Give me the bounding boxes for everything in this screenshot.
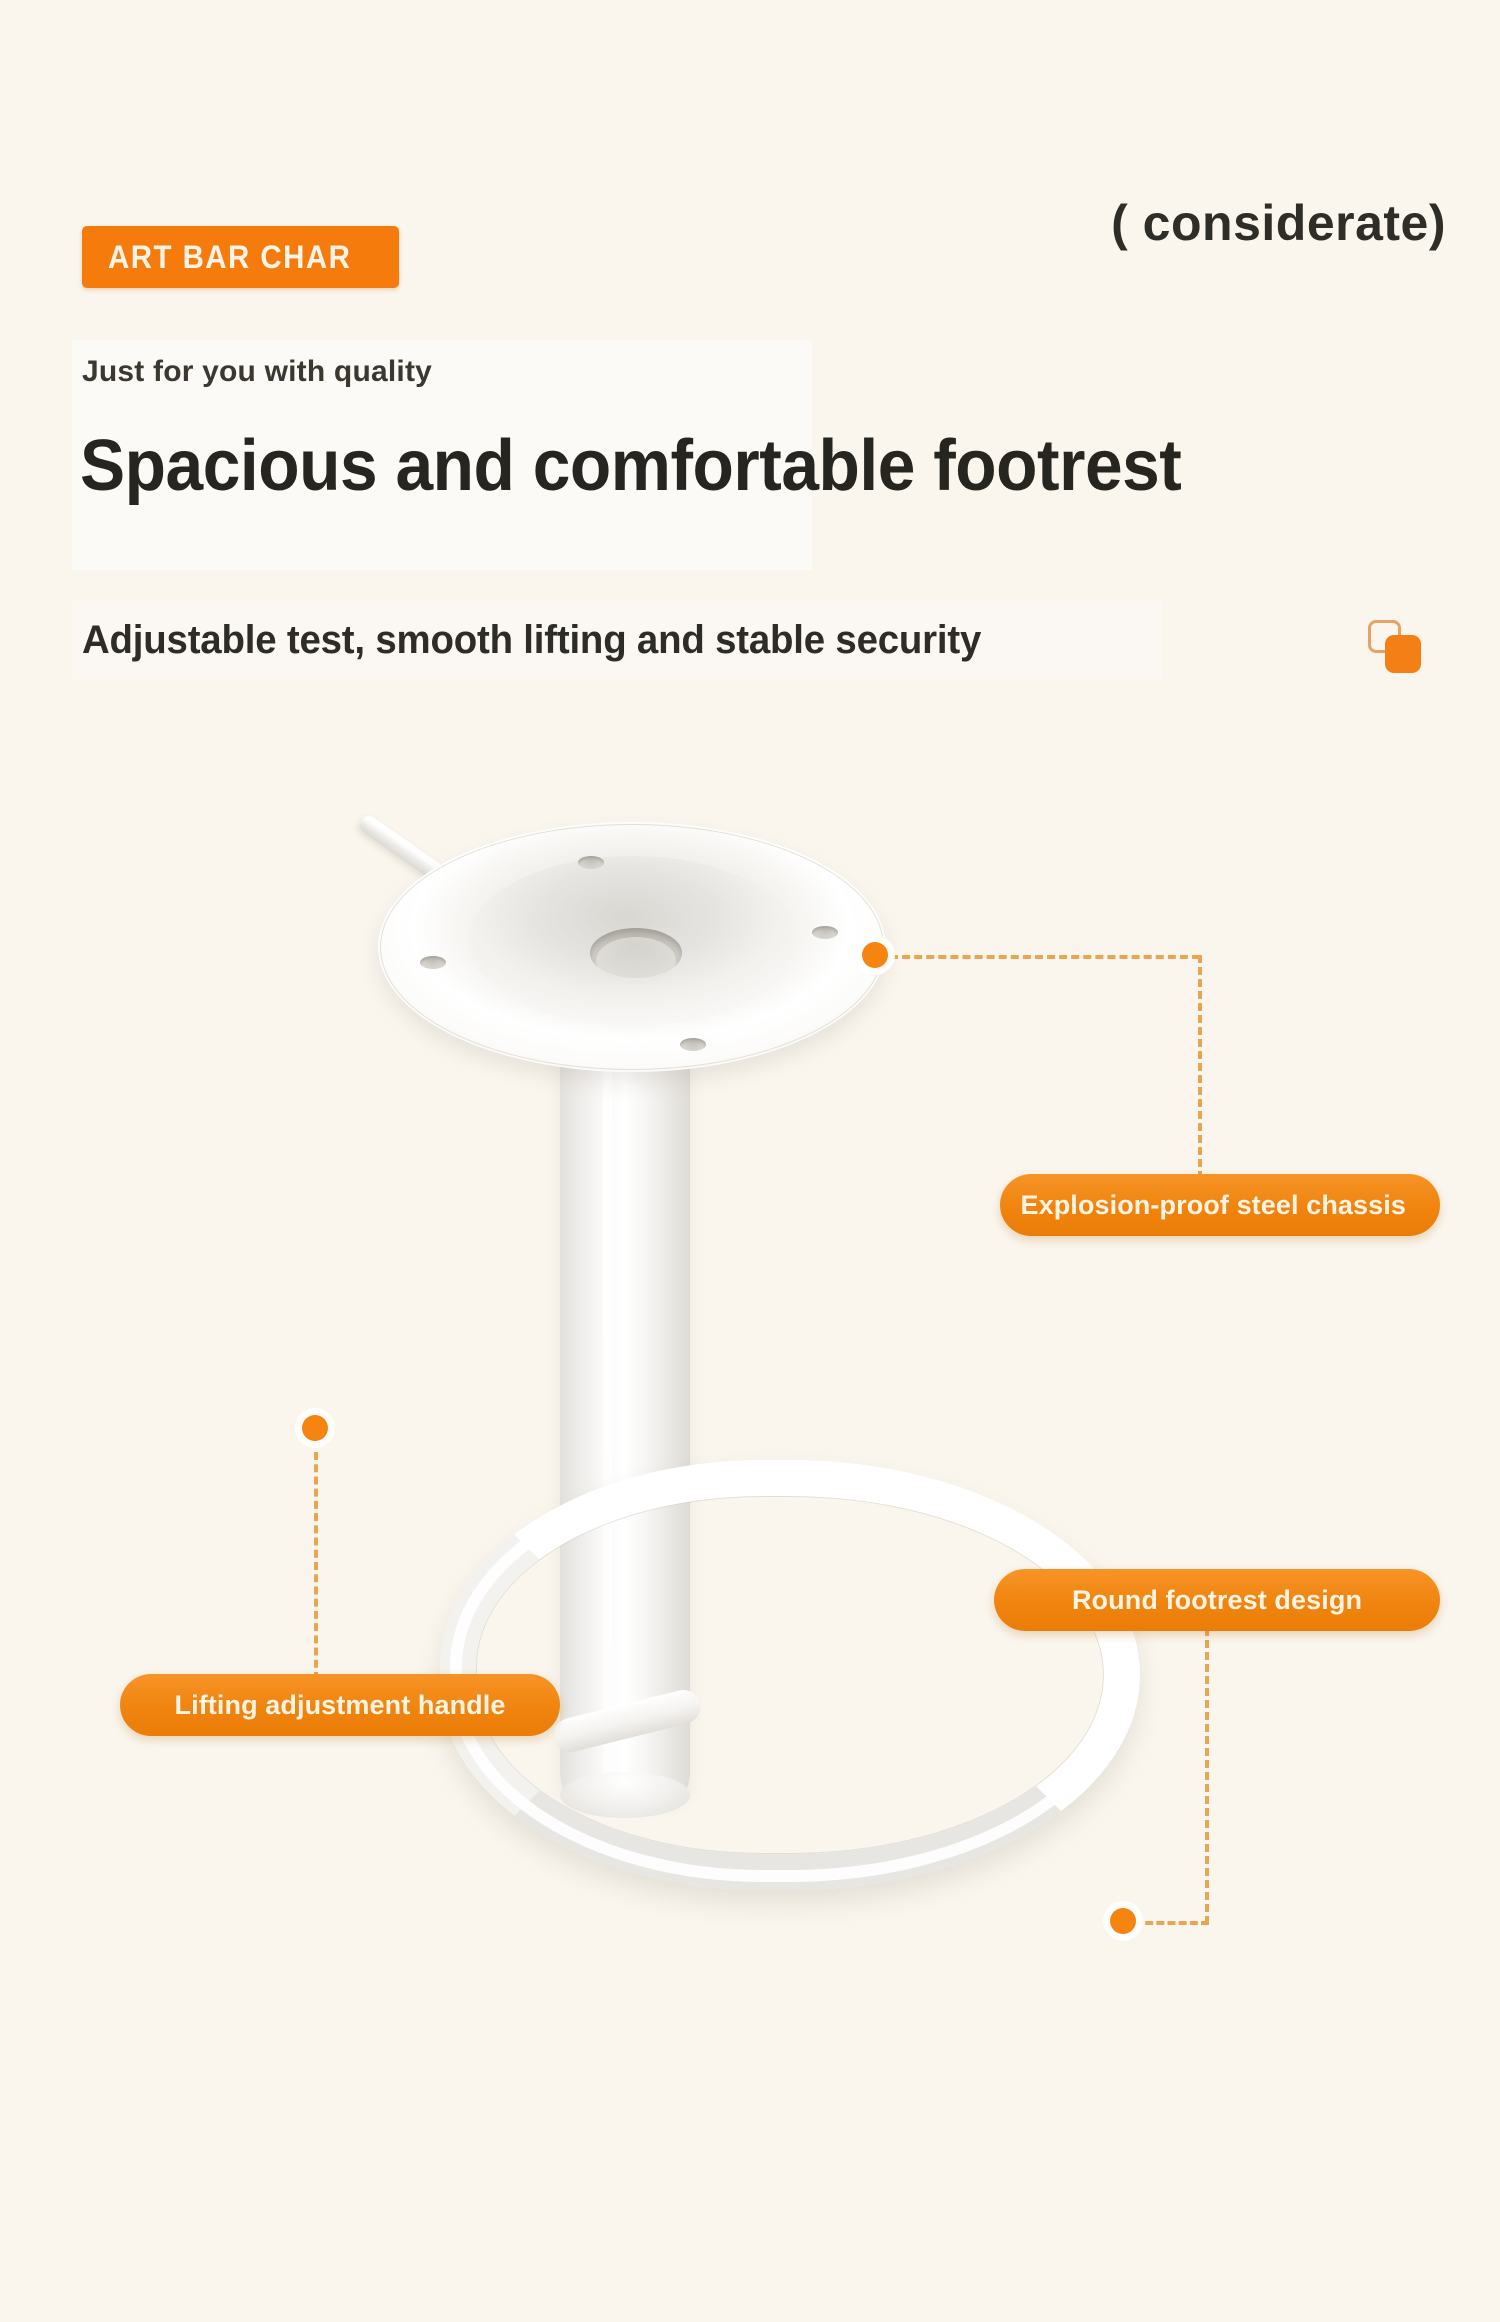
brand-badge-label: ART BAR CHAR (108, 239, 351, 276)
product-infographic-page: ART BAR CHAR ( considerate) Just for you… (0, 0, 1500, 2322)
callout-handle-label: Lifting adjustment handle (175, 1690, 506, 1721)
chassis-screw-hole (812, 926, 838, 939)
product-illustration (0, 760, 1500, 2200)
tagline: Just for you with quality (82, 355, 432, 389)
copy-squares-icon (1368, 620, 1424, 676)
considerate-note: ( considerate) (1111, 194, 1446, 252)
chassis-screw-hole (680, 1038, 706, 1051)
callout-chassis-label: Explosion-proof steel chassis (1020, 1190, 1406, 1221)
leader-line-chassis-vertical (1198, 955, 1202, 1179)
chassis-screw-hole (420, 956, 446, 969)
anchor-dot-footrest (1110, 1908, 1136, 1934)
page-title: Spacious and comfortable footrest (80, 430, 1181, 502)
footrest-ring-gloss (450, 1468, 1130, 1882)
leader-line-footrest-horizontal (1134, 1921, 1209, 1925)
copy-icon-front-square (1385, 635, 1421, 673)
subtitle: Adjustable test, smooth lifting and stab… (82, 618, 981, 663)
footrest-ring (440, 1460, 1140, 1890)
leader-line-footrest-vertical (1205, 1628, 1209, 1924)
callout-footrest-label: Round footrest design (1072, 1585, 1362, 1616)
callout-handle[interactable]: Lifting adjustment handle (120, 1674, 560, 1736)
callout-footrest[interactable]: Round footrest design (994, 1569, 1440, 1631)
callout-chassis[interactable]: Explosion-proof steel chassis (1000, 1174, 1440, 1236)
anchor-dot-chassis (862, 942, 888, 968)
anchor-dot-handle (302, 1415, 328, 1441)
brand-badge: ART BAR CHAR (82, 226, 399, 288)
leader-line-handle-vertical (314, 1452, 318, 1680)
chassis-screw-hole (578, 856, 604, 869)
chassis-center-bore (590, 928, 682, 978)
leader-line-chassis-horizontal (890, 955, 1200, 959)
